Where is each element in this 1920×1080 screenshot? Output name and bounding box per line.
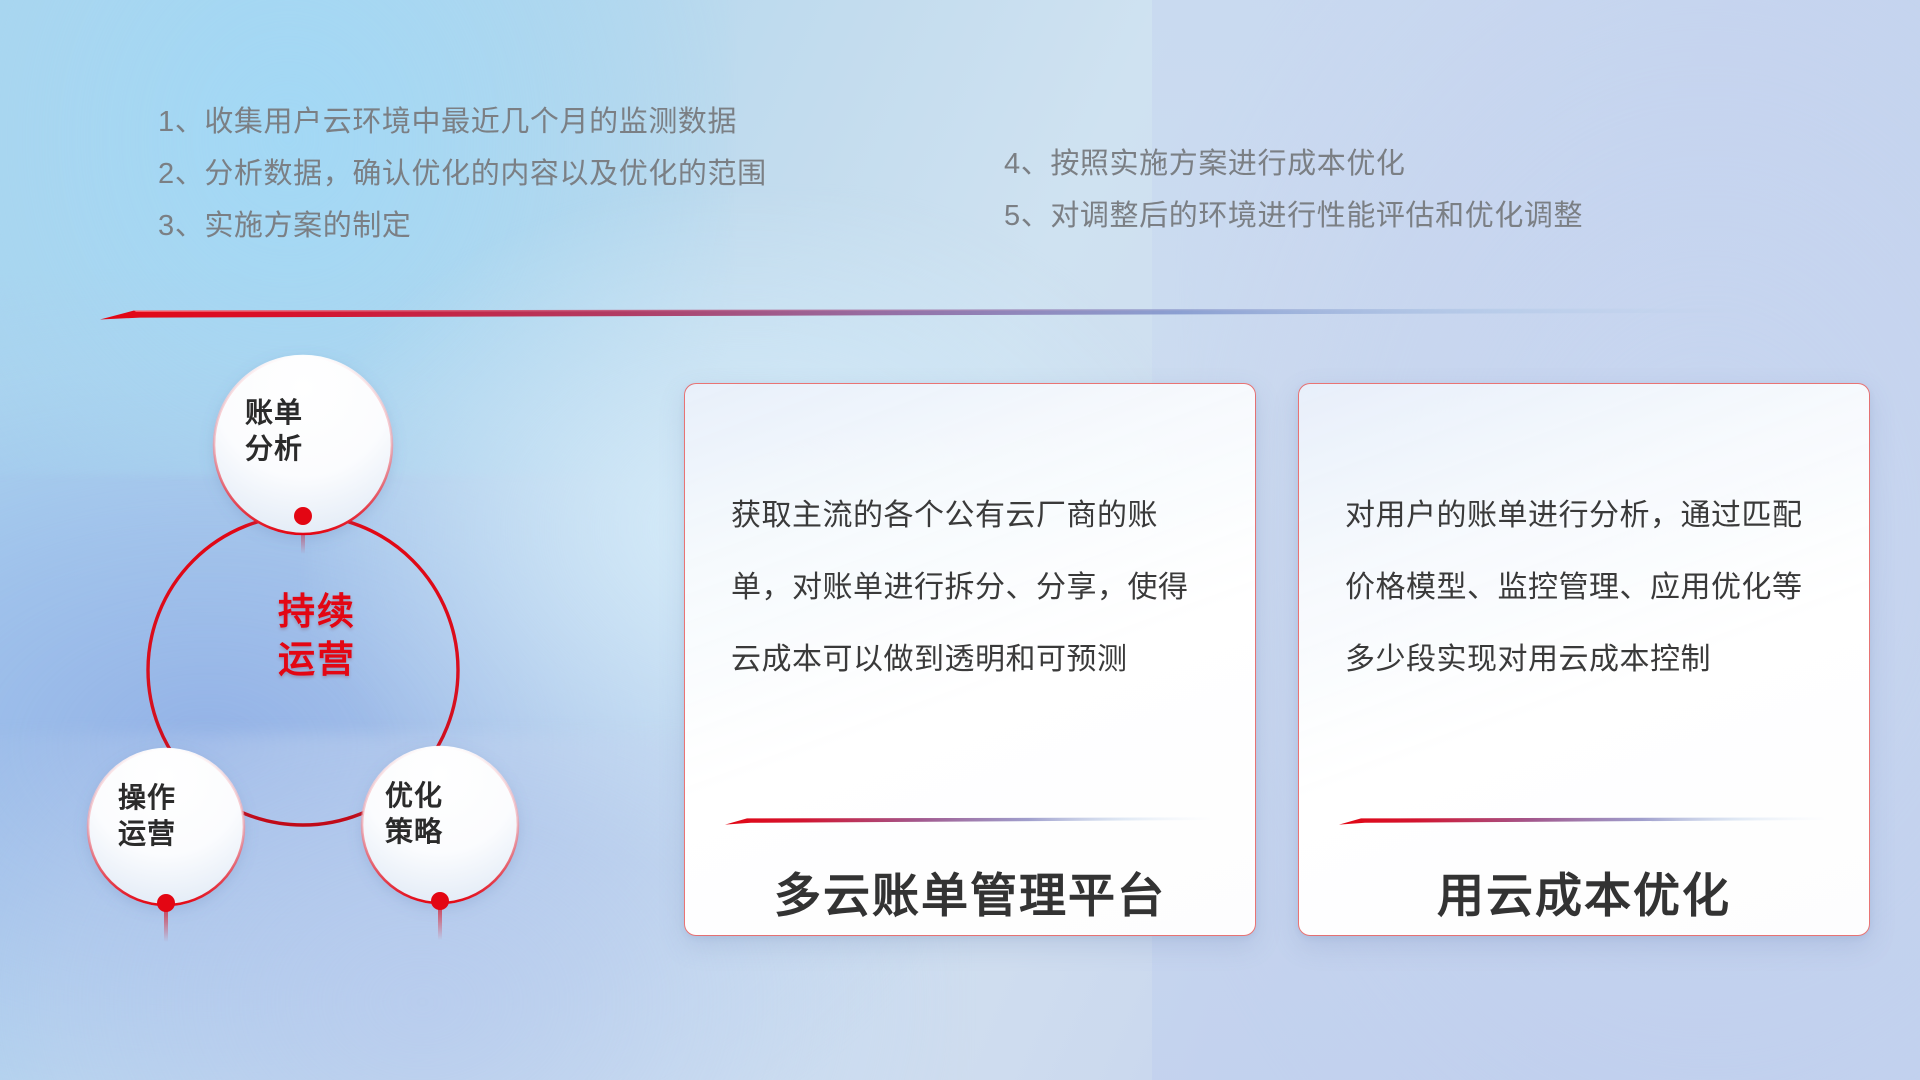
bubble-label-line-2: 策略 (385, 814, 443, 850)
connector-dot-right (431, 892, 449, 910)
info-card-title: 多云账单管理平台 (685, 857, 1255, 926)
bubble-label-line-1: 操作 (118, 780, 176, 816)
step-item-5: 5、对调整后的环境进行性能评估和优化调整 (1004, 190, 1583, 242)
section-divider (100, 306, 1840, 322)
process-steps-right-column: 4、按照实施方案进行成本优化 5、对调整后的环境进行性能评估和优化调整 (1004, 138, 1583, 242)
bubble-label-line-1: 优化 (385, 778, 443, 814)
step-item-3: 3、实施方案的制定 (158, 200, 767, 252)
info-card-divider-shape (725, 816, 1213, 826)
info-card-divider (1339, 816, 1827, 826)
step-item-4: 4、按照实施方案进行成本优化 (1004, 138, 1583, 190)
section-divider-shape (100, 306, 1840, 322)
bubble-label-line-2: 运营 (118, 816, 176, 852)
info-card-divider-shape (1339, 816, 1827, 826)
diagram-center-label-line-2: 运营 (278, 636, 356, 684)
info-card-cloud-cost-optimization[interactable]: 对用户的账单进行分析，通过匹配价格模型、监控管理、应用优化等多少段实现对用云成本… (1298, 383, 1870, 936)
process-steps: 1、收集用户云环境中最近几个月的监测数据 2、分析数据，确认优化的内容以及优化的… (0, 96, 1920, 276)
process-steps-left-column: 1、收集用户云环境中最近几个月的监测数据 2、分析数据，确认优化的内容以及优化的… (158, 96, 767, 252)
diagram-center-label-line-1: 持续 (278, 588, 356, 636)
step-item-1: 1、收集用户云环境中最近几个月的监测数据 (158, 96, 767, 148)
bubble-label-operation-management: 操作 运营 (118, 780, 176, 852)
bubble-label-line-2: 分析 (245, 431, 303, 467)
connector-dot-left (157, 894, 175, 912)
bubble-label-bill-analysis: 账单 分析 (245, 395, 303, 467)
diagram-center-label: 持续 运营 (278, 588, 356, 684)
step-item-2: 2、分析数据，确认优化的内容以及优化的范围 (158, 148, 767, 200)
info-card-title: 用云成本优化 (1299, 857, 1869, 926)
bubble-label-optimization-strategy: 优化 策略 (385, 778, 443, 850)
info-card-multi-cloud-billing-platform[interactable]: 获取主流的各个公有云厂商的账单，对账单进行拆分、分享，使得云成本可以做到透明和可… (684, 383, 1256, 936)
bubble-label-line-1: 账单 (245, 395, 303, 431)
info-card-divider (725, 816, 1213, 826)
info-card-body: 对用户的账单进行分析，通过匹配价格模型、监控管理、应用优化等多少段实现对用云成本… (1345, 480, 1829, 696)
connector-dot-top (294, 507, 312, 525)
info-card-body: 获取主流的各个公有云厂商的账单，对账单进行拆分、分享，使得云成本可以做到透明和可… (731, 480, 1215, 696)
